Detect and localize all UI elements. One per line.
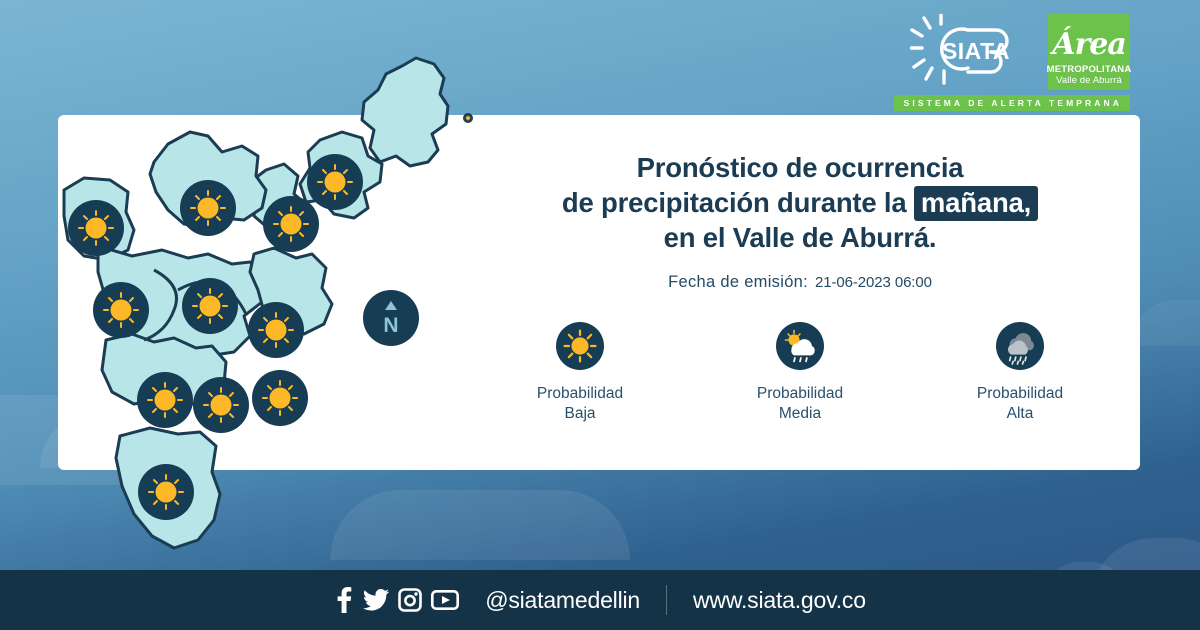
footer-bar: @siatamedellin www.siata.gov.co — [0, 570, 1200, 630]
sun-icon — [248, 302, 304, 358]
marker-itagui[interactable] — [93, 282, 149, 338]
title-line-1: Pronóstico de ocurrencia — [500, 150, 1100, 185]
logo-group: SIATA Área METROPOLITANA Valle de Aburrá — [910, 14, 1130, 90]
sun-icon — [252, 370, 308, 426]
legend-label-alta: Probabilidad Alta — [977, 384, 1063, 424]
marker-barbosa-norte[interactable] — [252, 370, 308, 426]
marker-caldas[interactable] — [138, 464, 194, 520]
sun-icon — [182, 278, 238, 334]
legend-item-baja: Probabilidad Baja — [514, 322, 646, 424]
instagram-icon[interactable] — [398, 588, 422, 612]
amva-line-valle: Valle de Aburrá — [1056, 75, 1122, 86]
sun-icon — [93, 282, 149, 338]
marker-envigado[interactable] — [248, 302, 304, 358]
twitter-icon[interactable] — [363, 589, 389, 611]
legend-label-alta-line2: Alta — [977, 404, 1063, 424]
legend-label-baja-line2: Baja — [537, 404, 623, 424]
marker-la-estrella[interactable] — [193, 377, 249, 433]
siata-logo: SIATA — [910, 14, 1038, 90]
sun-icon — [263, 196, 319, 252]
probability-legend: Probabilidad Baja Probabilidad Media — [500, 322, 1100, 424]
sun-icon — [180, 180, 236, 236]
sun-cloud-rain-icon — [776, 322, 824, 370]
legend-item-alta: Probabilidad Alta — [954, 322, 1086, 424]
page-title: Pronóstico de ocurrencia de precipitació… — [500, 150, 1100, 255]
early-warning-banner: SISTEMA DE ALERTA TEMPRANA — [894, 95, 1130, 111]
legend-label-baja: Probabilidad Baja — [537, 384, 623, 424]
sun-icon — [463, 113, 473, 123]
legend-item-media: Probabilidad Media — [734, 322, 866, 424]
background-cloud-icon — [1130, 300, 1200, 346]
marker-barbosa[interactable] — [463, 113, 473, 123]
valle-de-aburra-map: N — [58, 40, 478, 560]
amva-line-metropolitana: METROPOLITANA — [1047, 64, 1132, 75]
cloud-rain-icon — [996, 322, 1044, 370]
legend-label-media-line2: Media — [757, 404, 843, 424]
emission-date-value: 21-06-2023 06:00 — [815, 274, 932, 291]
sun-icon — [138, 464, 194, 520]
title-line-2: de precipitación durante la mañana, — [500, 185, 1100, 220]
compass-rose: N — [363, 290, 419, 346]
emission-date-label: Fecha de emisión: — [668, 273, 808, 292]
website-url[interactable]: www.siata.gov.co — [693, 587, 866, 614]
footer-divider — [666, 585, 667, 615]
social-icon-group — [334, 587, 459, 613]
legend-label-alta-line1: Probabilidad — [977, 384, 1063, 404]
marker-medellin[interactable] — [182, 278, 238, 334]
marker-san-pedro[interactable] — [68, 200, 124, 256]
sun-icon — [137, 372, 193, 428]
legend-label-media: Probabilidad Media — [757, 384, 843, 424]
facebook-icon[interactable] — [334, 587, 354, 613]
sun-cloud-icon: SIATA — [910, 14, 1038, 90]
title-line-3: en el Valle de Aburrá. — [500, 220, 1100, 255]
title-highlight-manana: mañana, — [914, 186, 1038, 221]
emission-date: Fecha de emisión: 21-06-2023 06:00 — [500, 273, 1100, 292]
sun-icon — [68, 200, 124, 256]
region-barbosa — [362, 58, 448, 166]
marker-copacabana[interactable] — [263, 196, 319, 252]
marker-sabaneta[interactable] — [137, 372, 193, 428]
youtube-icon[interactable] — [431, 590, 459, 610]
sun-icon — [556, 322, 604, 370]
marker-bello[interactable] — [180, 180, 236, 236]
social-handle[interactable]: @siatamedellin — [485, 587, 640, 614]
compass-label: N — [383, 314, 398, 337]
legend-label-baja-line1: Probabilidad — [537, 384, 623, 404]
siata-wordmark: SIATA — [942, 38, 1010, 64]
north-arrow-icon: N — [363, 290, 419, 346]
legend-label-media-line1: Probabilidad — [757, 384, 843, 404]
title-line-2-text: de precipitación durante la — [562, 187, 907, 218]
sun-icon — [193, 377, 249, 433]
amva-script-text: Área — [1052, 28, 1126, 62]
forecast-panel: Pronóstico de ocurrencia de precipitació… — [500, 150, 1100, 424]
amva-logo: Área METROPOLITANA Valle de Aburrá — [1048, 14, 1130, 90]
